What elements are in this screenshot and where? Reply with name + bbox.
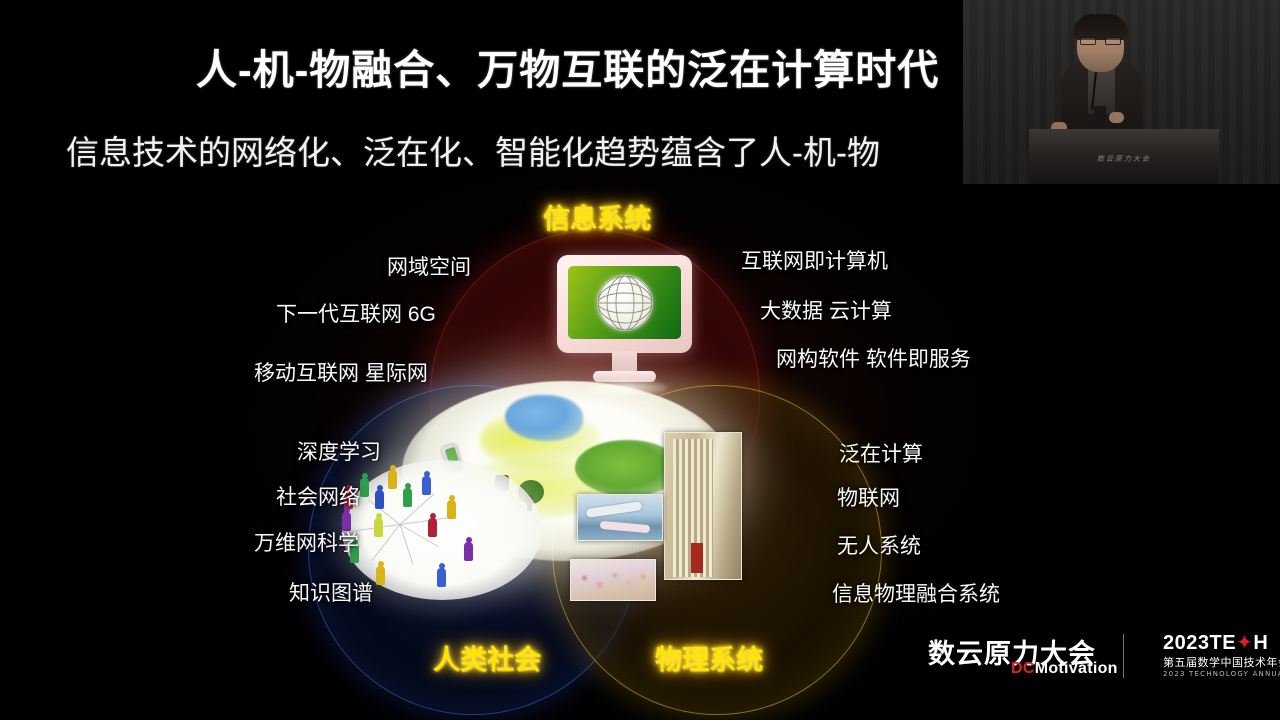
- summit-spark-icon: ✦: [1236, 632, 1253, 654]
- keyword-bottom-left-0: 深度学习: [297, 436, 381, 466]
- person-icon: [464, 542, 473, 561]
- monitor-bezel: [557, 255, 692, 353]
- logo-divider: [1123, 634, 1124, 678]
- photo-tile-crowd: [570, 559, 656, 601]
- conference-logo: 数云原力大会 DCMotivation: [928, 632, 1162, 686]
- pip-speaker-right-hand: [1109, 112, 1124, 123]
- keyword-bottom-right-0: 泛在计算: [839, 438, 923, 468]
- photo-tile-airplane: [577, 494, 663, 541]
- venn-caption-physical-system: 物理系统: [655, 638, 763, 677]
- person-icon: [428, 518, 437, 537]
- globe-icon: [597, 275, 653, 331]
- keyword-top-left-1: 下一代互联网 6G: [276, 298, 436, 328]
- keyword-bottom-right-2: 无人系统: [837, 530, 921, 560]
- person-icon: [375, 490, 384, 509]
- speaker-video-overlay[interactable]: 数云原力大会: [962, 0, 1280, 184]
- cloud-city-blue: [505, 395, 583, 441]
- monitor-glow: [583, 379, 667, 397]
- summit-tech-tail: H: [1253, 632, 1268, 654]
- pip-podium: 数云原力大会: [1029, 129, 1219, 184]
- logo-brand-en: DCMotivation: [1011, 660, 1118, 678]
- slide-subtitle: 信息技术的网络化、泛在化、智能化趋势蕴含了人-机-物: [66, 126, 880, 174]
- venn-caption-human-society: 人类社会: [433, 638, 541, 677]
- summit-year-tech: 2023TE✦H: [1163, 630, 1268, 655]
- summit-title-en: 2023 TECHNOLOGY ANNUAL SUMMIT: [1163, 670, 1280, 678]
- summit-title-cn: 第五届数学中国技术年会: [1163, 654, 1280, 670]
- keyword-top-left-0: 网域空间: [387, 251, 471, 281]
- logo-dc-text: DC: [1011, 660, 1035, 677]
- person-icon: [360, 478, 369, 497]
- pip-speaker-badge: [1094, 106, 1106, 121]
- photo-tile-skyscraper: [664, 432, 742, 580]
- person-icon: [422, 476, 431, 495]
- person-icon: [437, 568, 446, 587]
- keyword-top-right-1: 大数据 云计算: [760, 295, 892, 325]
- person-icon: [376, 566, 385, 585]
- monitor-screen: [568, 266, 681, 339]
- slide-title: 人-机-物融合、万物互联的泛在计算时代: [196, 36, 939, 96]
- person-icon: [374, 518, 383, 537]
- monitor-neck: [612, 351, 637, 373]
- person-icon: [403, 488, 412, 507]
- summit-logo: 2023TE✦H 第五届数学中国技术年会 2023 TECHNOLOGY ANN…: [1163, 630, 1280, 688]
- person-icon: [447, 500, 456, 519]
- keyword-top-right-0: 互联网即计算机: [741, 245, 888, 275]
- person-icon: [388, 470, 397, 489]
- summit-tech: TE: [1210, 632, 1237, 654]
- logo-motivation-text: Motivation: [1035, 660, 1118, 677]
- keyword-top-right-2: 网构软件 软件即服务: [776, 343, 971, 373]
- summit-year: 2023: [1163, 632, 1210, 654]
- keyword-bottom-left-1: 社会网络: [276, 481, 360, 511]
- keyword-bottom-right-3: 信息物理融合系统: [832, 578, 1000, 608]
- presentation-slide: 人-机-物融合、万物互联的泛在计算时代 信息技术的网络化、泛在化、智能化趋势蕴含…: [0, 0, 1280, 720]
- keyword-top-left-2: 移动互联网 星际网: [254, 357, 428, 387]
- keyword-bottom-right-1: 物联网: [837, 482, 900, 512]
- pip-podium-label: 数云原力大会: [1029, 154, 1219, 164]
- pip-speaker-glasses: [1080, 37, 1121, 45]
- keyword-bottom-left-3: 知识图谱: [289, 577, 373, 607]
- monitor-icon: [557, 255, 692, 390]
- venn-caption-information-system: 信息系统: [543, 197, 651, 236]
- keyword-bottom-left-2: 万维网科学: [254, 527, 359, 557]
